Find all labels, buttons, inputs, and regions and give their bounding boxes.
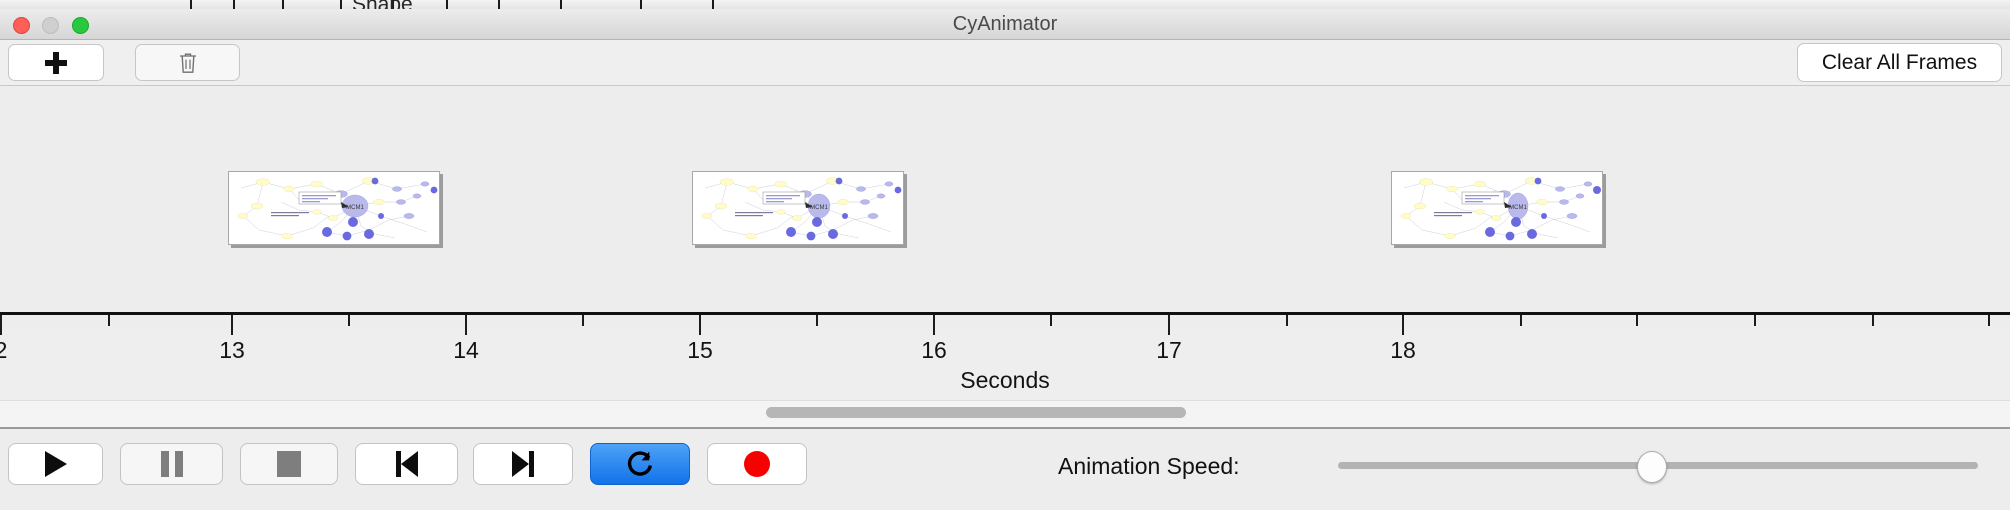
axis-tick-label: 18 [1390, 337, 1416, 364]
record-button[interactable] [707, 443, 807, 485]
axis-major-tick [699, 315, 701, 335]
clear-all-frames-button[interactable]: Clear All Frames [1797, 43, 2002, 82]
animation-speed-label: Animation Speed: [1058, 453, 1240, 480]
axis-minor-tick [582, 315, 584, 326]
add-frame-button[interactable] [8, 44, 104, 81]
axis-minor-tick [108, 315, 110, 326]
play-icon [45, 451, 67, 477]
skip-to-end-button[interactable] [473, 443, 573, 485]
timeline-scrollbar-thumb[interactable] [766, 407, 1186, 418]
axis-minor-tick [1520, 315, 1522, 326]
network-thumbnail-image: MCM1 [693, 172, 903, 244]
skip-back-icon [396, 451, 418, 477]
pause-icon [161, 451, 183, 477]
axis-tick-label: 16 [921, 337, 947, 364]
frame-toolbar: Clear All Frames [0, 40, 2010, 86]
timeline-panel[interactable]: MCM1 [0, 86, 2010, 326]
axis-minor-tick [1754, 315, 1756, 326]
plus-icon [45, 52, 67, 74]
frame-thumbnail-2[interactable]: MCM1 [692, 171, 904, 245]
stop-button[interactable] [240, 443, 338, 485]
axis-minor-tick [1872, 315, 1874, 326]
loop-icon [625, 449, 655, 479]
skip-forward-icon [512, 451, 534, 477]
cyanimator-window: Shape CyAnimator Clear All Frames [0, 0, 2010, 510]
loop-button[interactable] [590, 443, 690, 485]
timeline-scrollbar[interactable] [0, 400, 2010, 427]
axis-tick-label: 2 [0, 337, 7, 364]
svg-text:MCM1: MCM1 [1509, 205, 1527, 211]
axis-major-tick [1168, 315, 1170, 335]
axis-minor-tick [816, 315, 818, 326]
stop-icon [277, 451, 301, 477]
axis-title: Seconds [0, 367, 2010, 394]
svg-text:MCM1: MCM1 [810, 205, 828, 211]
trash-icon [178, 51, 198, 75]
frame-thumbnail-3[interactable]: MCM1 [1391, 171, 1603, 245]
network-thumbnail-image: MCM1 [1392, 172, 1602, 244]
skip-to-start-button[interactable] [355, 443, 458, 485]
axis-minor-tick [1050, 315, 1052, 326]
network-thumbnail-image: MCM1 [229, 172, 439, 244]
axis-major-tick [231, 315, 233, 335]
play-button[interactable] [8, 443, 103, 485]
record-icon [744, 451, 770, 477]
frame-thumbnail-1[interactable]: MCM1 [228, 171, 440, 245]
timeline-axis-line [0, 312, 2010, 315]
axis-minor-tick [1988, 315, 1990, 326]
window-title: CyAnimator [0, 9, 2010, 39]
title-bar: CyAnimator [0, 9, 2010, 40]
playback-control-bar: Animation Speed: [0, 427, 2010, 510]
animation-speed-slider-thumb[interactable] [1637, 451, 1667, 483]
axis-major-tick [933, 315, 935, 335]
pause-button[interactable] [120, 443, 223, 485]
axis-tick-label: 15 [687, 337, 713, 364]
axis-minor-tick [1636, 315, 1638, 326]
axis-tick-label: 13 [219, 337, 245, 364]
axis-minor-tick [1286, 315, 1288, 326]
axis-minor-tick [348, 315, 350, 326]
axis-tick-label: 17 [1156, 337, 1182, 364]
axis-major-tick [465, 315, 467, 335]
axis-major-tick [0, 315, 2, 335]
axis-tick-label: 14 [453, 337, 479, 364]
delete-frame-button[interactable] [135, 44, 240, 81]
axis-major-tick [1402, 315, 1404, 335]
svg-text:MCM1: MCM1 [346, 205, 364, 211]
